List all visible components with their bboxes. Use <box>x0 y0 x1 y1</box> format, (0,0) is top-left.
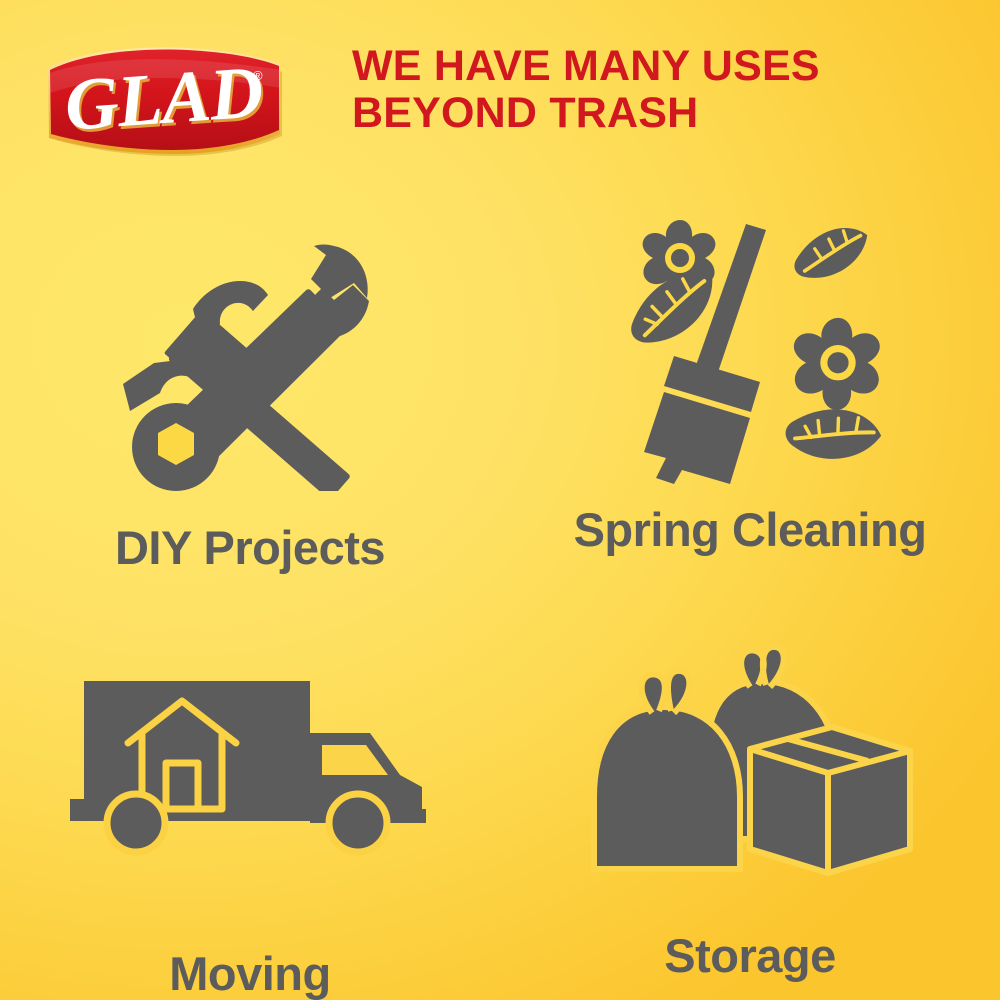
moving-truck-house-icon <box>70 582 430 926</box>
glad-uses-poster: GLAD GLAD ® WE HAVE MANY USES BEYOND TRA… <box>0 0 1000 1000</box>
use-item-label: Moving <box>169 948 330 1000</box>
headline-line-1: WE HAVE MANY USES <box>352 42 820 90</box>
broom-flowers-leaves-icon <box>570 178 930 496</box>
use-item-label: Storage <box>664 930 836 982</box>
headline-line-2: BEYOND TRASH <box>352 90 952 137</box>
use-item-spring-cleaning: Spring Cleaning <box>500 178 1000 582</box>
use-item-label: DIY Projects <box>115 522 385 574</box>
svg-text:GLAD: GLAD <box>62 51 265 147</box>
headline: WE HAVE MANY USES BEYOND TRASH <box>352 43 952 137</box>
hammer-wrench-icon <box>90 178 410 516</box>
use-item-diy-projects: DIY Projects <box>0 178 500 582</box>
use-item-label: Spring Cleaning <box>574 504 927 556</box>
rear-wheel <box>107 794 165 852</box>
use-item-moving: Moving <box>0 582 500 1000</box>
poster-header: GLAD GLAD ® WE HAVE MANY USES BEYOND TRA… <box>0 0 1000 175</box>
trash-bags-box-icon <box>580 582 920 908</box>
registered-mark-icon: ® <box>253 68 263 83</box>
cardboard-box <box>750 727 910 873</box>
uses-grid: DIY Projects <box>0 178 1000 1000</box>
logo-wordmark: GLAD GLAD <box>62 51 267 150</box>
front-wheel <box>329 794 387 852</box>
glad-logo: GLAD GLAD ® <box>47 44 282 156</box>
use-item-storage: Storage <box>500 582 1000 1000</box>
